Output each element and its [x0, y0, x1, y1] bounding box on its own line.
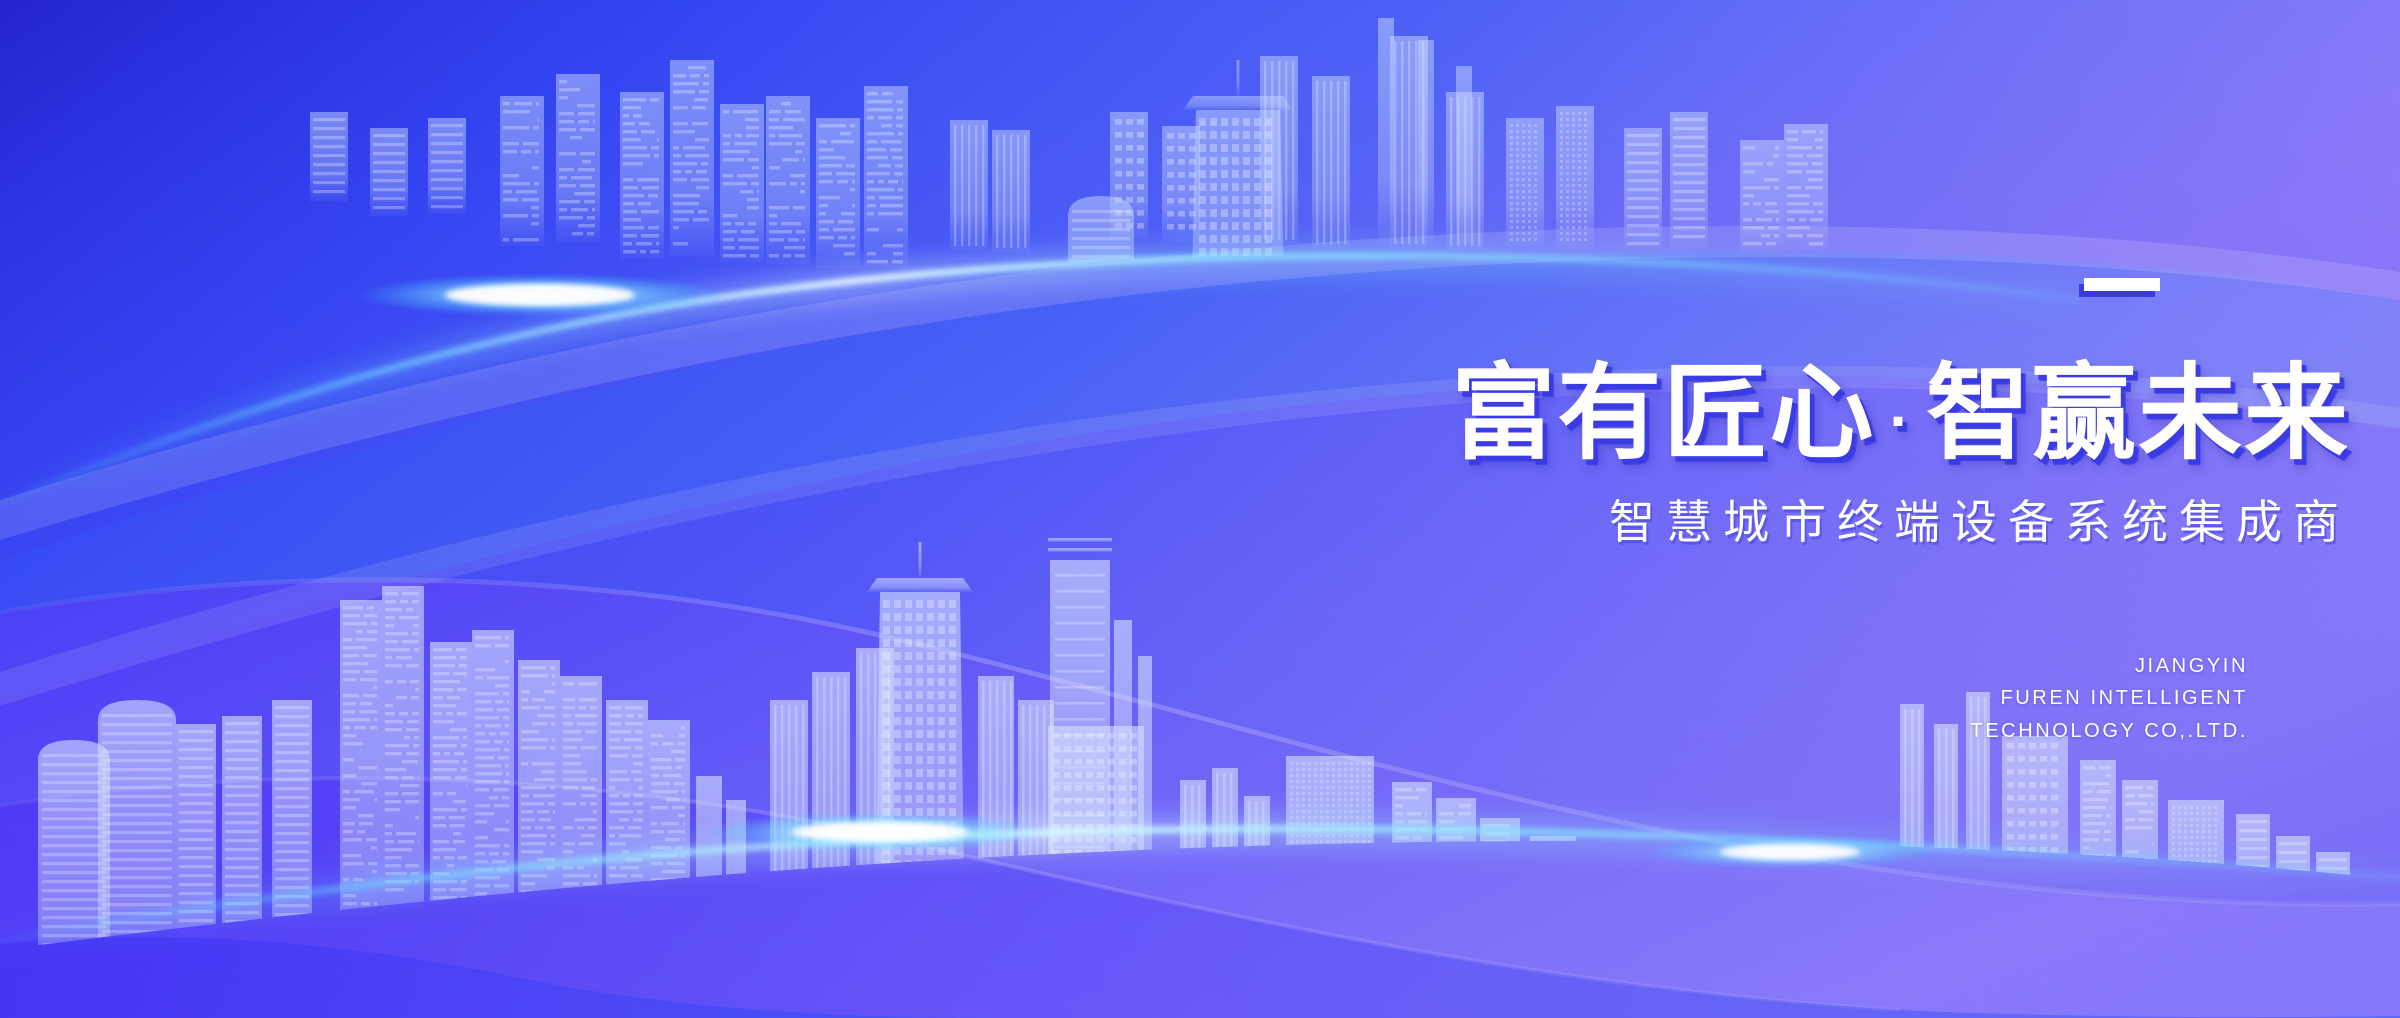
- background-artwork: [0, 0, 2400, 1018]
- banner-canvas: 富有匠心·智赢未来 智慧城市终端设备系统集成商 JIANGYIN FUREN I…: [0, 0, 2400, 1018]
